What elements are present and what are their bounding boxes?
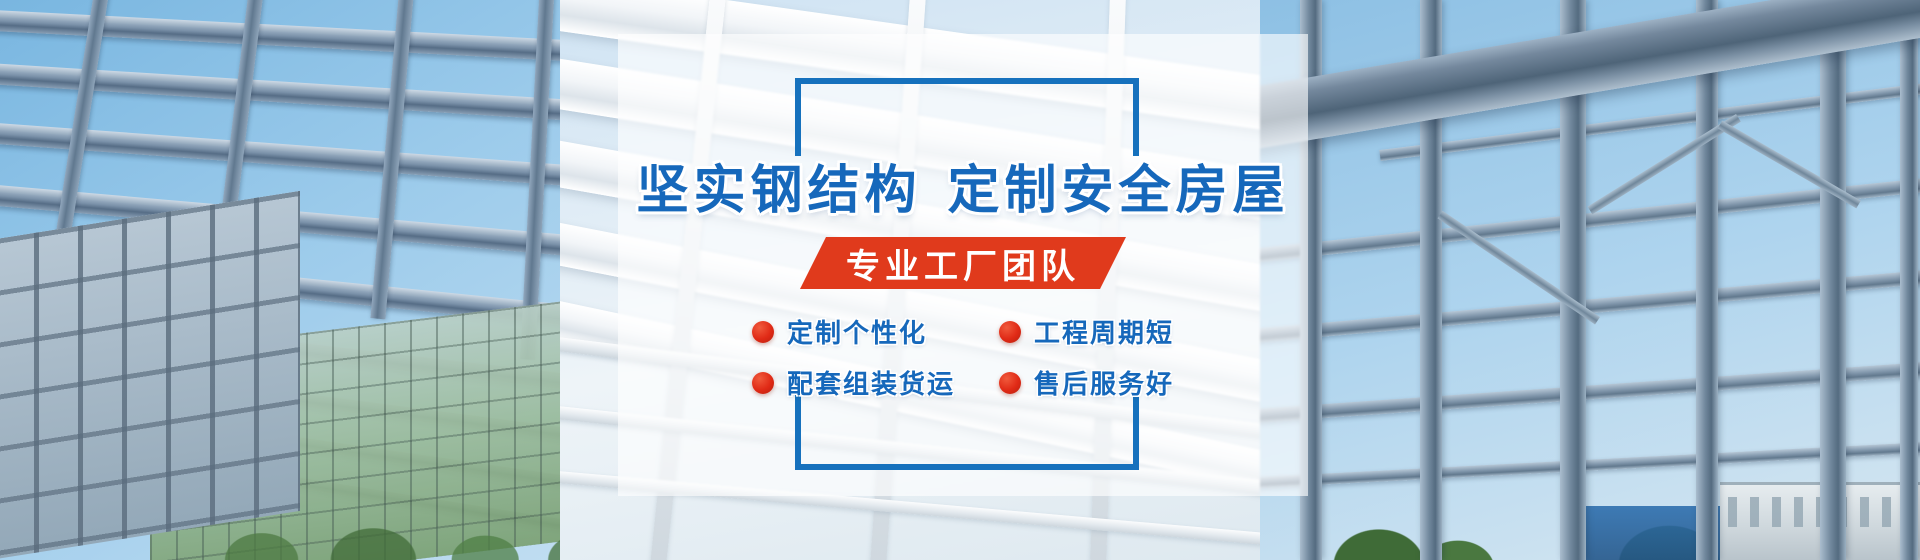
feature-item: 配套组装货运 [752,364,955,401]
red-dot-icon [752,372,774,394]
headline-part-1: 坚实钢结构 [636,162,921,220]
feature-list: 定制个性化 工程周期短 配套组装货运 售后服务好 [752,313,1174,401]
feature-item: 工程周期短 [999,313,1174,350]
feature-item: 定制个性化 [752,313,955,350]
feature-label: 配套组装货运 [787,364,955,401]
ribbon-badge: 专业工厂团队 [800,237,1126,289]
red-dot-icon [752,321,774,343]
red-dot-icon [999,372,1021,394]
feature-item: 售后服务好 [999,364,1174,401]
ribbon-label: 专业工厂团队 [846,239,1080,288]
scaffolding-wall [0,191,300,560]
right-steel-frame-scene [1260,0,1920,560]
left-steel-truss-scene [0,0,640,560]
headline-part-2: 定制安全房屋 [948,162,1290,220]
headline: 坚实钢结构定制安全房屋 [636,148,1289,223]
banner-content: 坚实钢结构定制安全房屋 专业工厂团队 定制个性化 工程周期短 配套组装货运 售后… [618,34,1308,496]
feature-label: 售后服务好 [1034,364,1174,401]
hero-banner: 坚实钢结构定制安全房屋 专业工厂团队 定制个性化 工程周期短 配套组装货运 售后… [0,0,1920,560]
feature-label: 定制个性化 [787,313,927,350]
red-dot-icon [999,321,1021,343]
feature-label: 工程周期短 [1034,313,1174,350]
